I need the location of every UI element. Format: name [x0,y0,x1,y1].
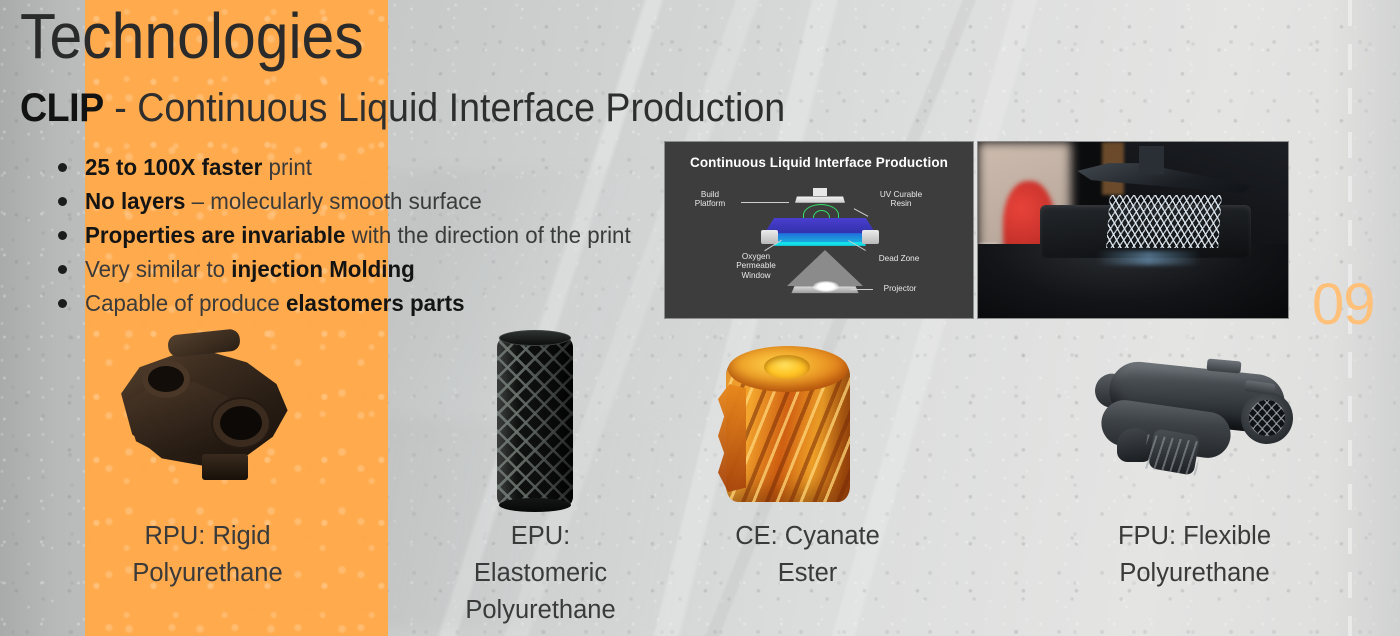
product-caption-ce: CE: Cyanate Ester [695,518,920,592]
list-item: Properties are invariable with the direc… [58,220,698,251]
product-caption-line: RPU: Rigid [95,518,320,555]
printer-photo [977,141,1289,319]
product-caption-line: CE: Cyanate [695,518,920,555]
bullet-strong: 25 to 100X faster [85,154,262,180]
diagram-label-dead-zone: Dead Zone [863,254,935,263]
product-caption-line: Ester [695,555,920,592]
bullet-dot-icon [58,299,67,308]
feature-bullet-list: 25 to 100X faster print No layers – mole… [58,152,698,322]
bullet-normal: – molecularly smooth surface [185,188,481,214]
projector-glow-icon [813,281,839,292]
list-item: Very similar to injection Molding [58,254,698,285]
diagram-leader-build-platform [741,202,789,203]
photo-build-arm-post [1139,146,1164,174]
product-image-fpu [1095,358,1295,508]
diagram-label-projector: Projector [867,284,933,293]
list-item: No layers – molecularly smooth surface [58,186,698,217]
diagram-label-oxygen-window: Oxygen Permeable Window [723,252,789,280]
epu-shading [497,338,573,506]
page-number: 09 [1312,276,1375,334]
product-caption-line: Polyurethane [428,592,653,629]
rpu-hole-lower [220,406,262,440]
bullet-text: No layers – molecularly smooth surface [85,186,482,217]
bullet-text: Capable of produce elastomers parts [85,288,465,319]
diagram-title: Continuous Liquid Interface Production [665,155,973,170]
product-image-ce [718,332,858,512]
product-caption-line: Polyurethane [95,555,320,592]
bullet-dot-icon [58,231,67,240]
build-platform-icon [795,196,845,202]
bullet-strong: No layers [85,188,185,214]
list-item: 25 to 100X faster print [58,152,698,183]
fpu-foot-ridges [1143,434,1201,475]
rpu-hole-upper [148,366,184,392]
list-item: Capable of produce elastomers parts [58,288,698,319]
bullet-normal: print [262,154,312,180]
bullet-dot-icon [58,265,67,274]
bullet-lead: Capable of produce [85,290,286,316]
epu-top-rim [499,330,571,346]
bullet-normal: with the direction of the print [345,222,630,248]
product-image-epu [497,330,573,510]
ce-impeller-left-edge [718,384,746,492]
bullet-text: Properties are invariable with the direc… [85,220,631,251]
diagram-leader-projector [851,289,873,290]
rpu-foot [202,454,248,480]
clip-process-diagram: Continuous Liquid Interface Production B… [664,141,974,319]
product-caption-fpu: FPU: Flexible Polyurethane [1082,518,1307,592]
bullet-text: 25 to 100X faster print [85,152,312,183]
subtitle-acronym: CLIP [20,86,104,130]
diagram-label-build-platform: Build Platform [679,190,741,209]
product-caption-line: Polyurethane [1082,555,1307,592]
ce-impeller-hub [764,355,810,379]
product-caption-line: FPU: Flexible [1082,518,1307,555]
product-caption-line: EPU: [428,518,653,555]
product-caption-line: Elastomeric [428,555,653,592]
rpu-tab [167,328,241,357]
photo-blue-glow [1096,251,1201,265]
epu-bottom-rim [499,498,571,512]
bullet-dot-icon [58,163,67,172]
page-subtitle: CLIP - Continuous Liquid Interface Produ… [20,88,785,128]
diagram-label-uv-resin: UV Curable Resin [865,190,937,209]
bullet-dot-icon [58,197,67,206]
bullet-lead: Very similar to [85,256,231,282]
build-platform-stem-icon [813,188,827,196]
epu-cylinder [497,338,573,506]
bullet-strong: Properties are invariable [85,222,345,248]
product-image-rpu [110,330,305,500]
fpu-end-lattice [1249,400,1285,436]
subtitle-expansion: - Continuous Liquid Interface Production [114,86,785,130]
bullet-strong: injection Molding [231,256,414,282]
product-caption-rpu: RPU: Rigid Polyurethane [95,518,320,592]
bullet-strong: elastomers parts [286,290,465,316]
product-caption-epu: EPU: Elastomeric Polyurethane [428,518,653,629]
photo-lattice-part [1106,195,1221,248]
bullet-text: Very similar to injection Molding [85,254,415,285]
vat-right-block-icon [862,230,879,244]
page-title: Technologies [20,4,364,68]
slide-canvas: Technologies CLIP - Continuous Liquid In… [0,0,1400,636]
